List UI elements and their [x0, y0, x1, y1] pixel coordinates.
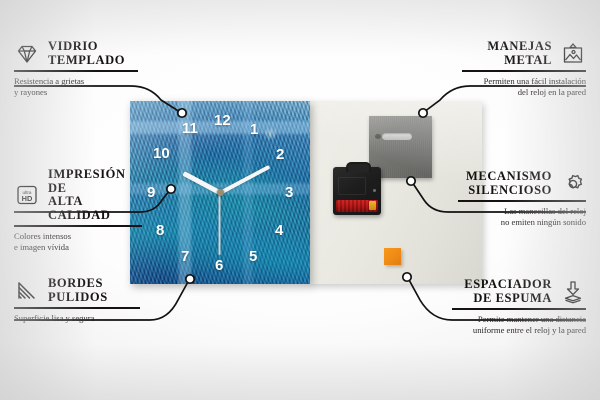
callout-rule: [14, 225, 142, 227]
callout-description: Colores intensos e imagen vívida: [14, 231, 142, 253]
infographic-canvas: 12 1 2 3 4 5 6 7 8 9 10 11: [0, 0, 600, 400]
clock-numeral-1: 1: [250, 122, 258, 137]
ultra-hd-badge-icon: ultra HD: [14, 182, 40, 208]
picture-frame-hanger-icon: [560, 41, 586, 67]
callout-manejas-metal[interactable]: MANEJAS METAL Permiten una fácil instala…: [462, 40, 586, 98]
mechanism-seam: [338, 177, 366, 195]
clock-numeral-11: 11: [182, 121, 198, 136]
callout-head: ESPACIADOR DE ESPUMA: [452, 278, 586, 305]
callout-mecanismo-silencioso[interactable]: MECANISMO SILENCIOSO Las manecillas del …: [458, 170, 586, 228]
battery: [336, 200, 378, 212]
arrow-down-layers-icon: [560, 279, 586, 305]
callout-description: Resistencia a grietas y rayones: [14, 76, 138, 98]
callout-rule: [452, 308, 586, 310]
gear-icon: [560, 171, 586, 197]
callout-rule: [14, 70, 138, 72]
mechanism-handle: [346, 162, 371, 172]
callout-title: BORDES PULIDOS: [48, 277, 108, 304]
metal-hanger-plate: [369, 116, 432, 178]
callout-description: Permite mantener una distancia uniforme …: [452, 314, 586, 336]
clock-mechanism: [333, 167, 381, 215]
callout-title: VIDRIO TEMPLADO: [48, 40, 125, 67]
clock-numeral-4: 4: [275, 223, 283, 238]
callout-description: Permiten una fácil instalación del reloj…: [462, 76, 586, 98]
product-photo: 12 1 2 3 4 5 6 7 8 9 10 11: [130, 101, 482, 284]
callout-bordes-pulidos[interactable]: BORDES PULIDOS Superficie lisa y segura: [14, 277, 140, 324]
callout-head: BORDES PULIDOS: [14, 277, 140, 304]
callout-head: ultra HD IMPRESIÓN DE ALTA CALIDAD: [14, 168, 142, 222]
callout-rule: [462, 70, 586, 72]
callout-rule: [458, 200, 586, 202]
foam-spacer: [384, 248, 401, 265]
clock-numeral-9: 9: [147, 185, 155, 200]
hanger-keyhole-slot: [382, 133, 412, 140]
callout-title: ESPACIADOR DE ESPUMA: [464, 278, 552, 305]
callout-description: Superficie lisa y segura: [14, 313, 140, 324]
wall-clock: 12 1 2 3 4 5 6 7 8 9 10 11: [130, 101, 310, 284]
clock-numeral-8: 8: [156, 223, 164, 238]
clock-numeral-6: 6: [215, 258, 223, 273]
callout-vidrio-templado[interactable]: VIDRIO TEMPLADO Resistencia a grietas y …: [14, 40, 138, 98]
callout-head: VIDRIO TEMPLADO: [14, 40, 138, 67]
callout-description: Las manecillas del reloj no emiten ningú…: [458, 206, 586, 228]
callout-title: MECANISMO SILENCIOSO: [466, 170, 552, 197]
callout-title: MANEJAS METAL: [487, 40, 552, 67]
callout-rule: [14, 307, 140, 309]
callout-head: MANEJAS METAL: [462, 40, 586, 67]
callout-impresion-alta-calidad[interactable]: ultra HD IMPRESIÓN DE ALTA CALIDAD Color…: [14, 168, 142, 253]
clock-numeral-5: 5: [249, 249, 257, 264]
clock-back-panel: [308, 101, 482, 284]
clock-numeral-2: 2: [276, 147, 284, 162]
callout-head: MECANISMO SILENCIOSO: [458, 170, 586, 197]
clock-numeral-10: 10: [153, 146, 170, 161]
diamond-icon: [14, 41, 40, 67]
callout-title: IMPRESIÓN DE ALTA CALIDAD: [48, 168, 142, 222]
clock-numeral-3: 3: [285, 185, 293, 200]
clock-numeral-12: 12: [214, 113, 231, 128]
clock-numeral-7: 7: [181, 249, 189, 264]
clock-center-pin: [217, 189, 224, 196]
hanger-texture: [369, 116, 432, 178]
polished-edges-icon: [14, 278, 40, 304]
callout-espaciador-de-espuma[interactable]: ESPACIADOR DE ESPUMA Permite mantener un…: [452, 278, 586, 336]
mechanism-dot: [373, 189, 376, 192]
battery-cap: [369, 201, 376, 210]
svg-text:HD: HD: [22, 194, 33, 203]
